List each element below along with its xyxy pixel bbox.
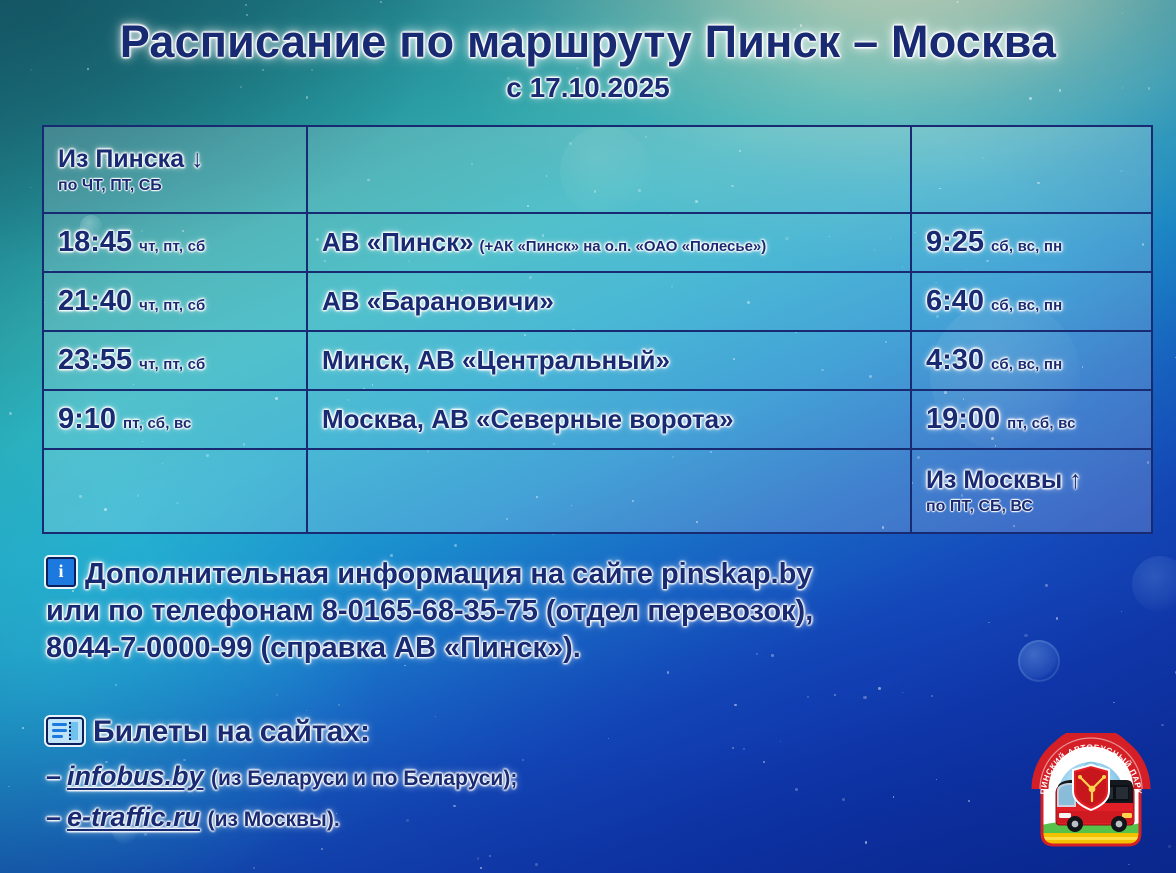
cell-arrival: 6:40сб, вс, пн <box>911 272 1152 331</box>
cell-station: Минск, АВ «Центральный» <box>307 331 911 390</box>
additional-info-block: Дополнительная информация на сайте pinsk… <box>46 556 1106 667</box>
poster-header: Расписание по маршруту Пинск – Москва с … <box>0 18 1176 104</box>
time-days: сб, вс, пн <box>991 297 1062 314</box>
info-text-1: Дополнительная информация на сайте pinsk… <box>85 558 812 590</box>
time-days: сб, вс, пн <box>991 356 1062 373</box>
station-label: АВ «Пинск» <box>322 227 474 257</box>
schedule-table: Из Пинска ↓ по ЧТ, ПТ, СБ 18:45чт, пт, с… <box>42 125 1153 534</box>
time-value: 19:00 <box>926 403 1000 435</box>
time-value: 21:40 <box>58 285 132 317</box>
footer-cell-from-moscow: Из Москвы ↑ по ПТ, СБ, ВС <box>911 449 1152 533</box>
table-header-row: Из Пинска ↓ по ЧТ, ПТ, СБ <box>43 126 1152 213</box>
cell-departure: 9:10пт, сб, вс <box>43 390 307 449</box>
ticket-site-note: (из Москвы). <box>208 808 340 831</box>
footer-cell-middle <box>307 449 911 533</box>
tickets-block: Билеты на сайтах: –infobus.by (из Белару… <box>46 712 517 833</box>
time-value: 18:45 <box>58 226 132 258</box>
ticket-site-item: –infobus.by (из Беларуси и по Беларуси); <box>46 761 517 792</box>
station-name: АВ «Пинск»(+АК «Пинск» на о.п. «ОАО «Пол… <box>322 227 910 258</box>
station-label: Минск, АВ «Центральный» <box>322 345 670 375</box>
table-row: 23:55чт, пт, сб Минск, АВ «Центральный» … <box>43 331 1152 390</box>
tickets-heading: Билеты на сайтах: <box>46 712 517 751</box>
direction-label: Из Пинска <box>58 145 184 173</box>
departure-time: 18:45чт, пт, сб <box>58 226 306 259</box>
arrival-time: 6:40сб, вс, пн <box>926 285 1151 318</box>
ticket-site-note: (из Беларуси и по Беларуси); <box>211 767 517 790</box>
ticket-site-item: –e-traffic.ru (из Москвы). <box>46 802 517 833</box>
station-name: Москва, АВ «Северные ворота» <box>322 404 910 435</box>
arrival-time: 9:25сб, вс, пн <box>926 226 1151 259</box>
pinsk-bus-park-logo: ПИНСКИЙ АВТОБУСНЫЙ ПАРК <box>1030 733 1152 855</box>
table-row: 9:10пт, сб, вс Москва, АВ «Северные воро… <box>43 390 1152 449</box>
station-note: (+АК «Пинск» на о.п. «ОАО «Полесье») <box>480 238 767 255</box>
time-value: 23:55 <box>58 344 132 376</box>
info-icon <box>46 557 76 587</box>
station-name: Минск, АВ «Центральный» <box>322 345 910 376</box>
schedule-poster: Расписание по маршруту Пинск – Москва с … <box>0 0 1176 873</box>
cell-departure: 21:40чт, пт, сб <box>43 272 307 331</box>
cell-arrival: 4:30сб, вс, пн <box>911 331 1152 390</box>
direction-title-from-pinsk: Из Пинска ↓ <box>58 145 306 174</box>
time-days: пт, сб, вс <box>1007 415 1076 432</box>
time-days: чт, пт, сб <box>139 297 205 314</box>
station-label: Москва, АВ «Северные ворота» <box>322 404 734 434</box>
header-cell-from-pinsk: Из Пинска ↓ по ЧТ, ПТ, СБ <box>43 126 307 213</box>
direction-days-from-pinsk: по ЧТ, ПТ, СБ <box>58 177 306 195</box>
arrow-up-icon: ↑ <box>1069 466 1082 494</box>
cell-arrival: 19:00пт, сб, вс <box>911 390 1152 449</box>
time-days: сб, вс, пн <box>991 238 1062 255</box>
info-line-3: 8044-7-0000-99 (справка АВ «Пинск»). <box>46 630 1106 667</box>
cell-station: АВ «Барановичи» <box>307 272 911 331</box>
arrow-down-icon: ↓ <box>191 145 204 173</box>
header-cell-arrival <box>911 126 1152 213</box>
cell-arrival: 9:25сб, вс, пн <box>911 213 1152 272</box>
time-days: чт, пт, сб <box>139 238 205 255</box>
list-dash: – <box>46 802 61 832</box>
table-footer-row: Из Москвы ↑ по ПТ, СБ, ВС <box>43 449 1152 533</box>
cell-station: АВ «Пинск»(+АК «Пинск» на о.п. «ОАО «Пол… <box>307 213 911 272</box>
info-line-2: или по телефонам 8-0165-68-35-75 (отдел … <box>46 593 1106 630</box>
departure-time: 21:40чт, пт, сб <box>58 285 306 318</box>
station-name: АВ «Барановичи» <box>322 286 910 317</box>
time-value: 9:25 <box>926 226 984 258</box>
table-row: 21:40чт, пт, сб АВ «Барановичи» 6:40сб, … <box>43 272 1152 331</box>
ticket-icon <box>46 717 84 745</box>
table-row: 18:45чт, пт, сб АВ «Пинск»(+АК «Пинск» н… <box>43 213 1152 272</box>
cell-departure: 18:45чт, пт, сб <box>43 213 307 272</box>
time-days: чт, пт, сб <box>139 356 205 373</box>
arrival-time: 4:30сб, вс, пн <box>926 344 1151 377</box>
link-etraffic[interactable]: e-traffic.ru <box>67 802 200 832</box>
header-cell-station <box>307 126 911 213</box>
cell-station: Москва, АВ «Северные ворота» <box>307 390 911 449</box>
link-infobus[interactable]: infobus.by <box>67 761 204 791</box>
page-title: Расписание по маршруту Пинск – Москва <box>0 18 1176 66</box>
info-line-1: Дополнительная информация на сайте pinsk… <box>46 556 1106 593</box>
direction-title-from-moscow: Из Москвы ↑ <box>926 466 1151 495</box>
time-value: 9:10 <box>58 403 116 435</box>
time-value: 6:40 <box>926 285 984 317</box>
list-dash: – <box>46 761 61 791</box>
station-label: АВ «Барановичи» <box>322 286 554 316</box>
arrival-time: 19:00пт, сб, вс <box>926 403 1151 436</box>
time-days: пт, сб, вс <box>123 415 192 432</box>
departure-time: 9:10пт, сб, вс <box>58 403 306 436</box>
cell-departure: 23:55чт, пт, сб <box>43 331 307 390</box>
page-subtitle: с 17.10.2025 <box>0 72 1176 104</box>
time-value: 4:30 <box>926 344 984 376</box>
tickets-heading-text: Билеты на сайтах: <box>93 715 370 748</box>
footer-cell-left <box>43 449 307 533</box>
departure-time: 23:55чт, пт, сб <box>58 344 306 377</box>
direction-days-from-moscow: по ПТ, СБ, ВС <box>926 498 1151 516</box>
direction-label: Из Москвы <box>926 466 1062 494</box>
